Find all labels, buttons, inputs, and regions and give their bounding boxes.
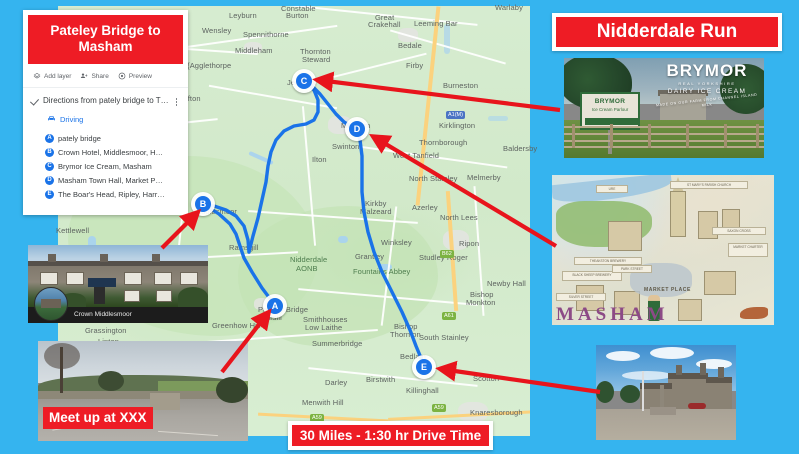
marker-letter: D — [349, 121, 365, 137]
car-icon — [47, 110, 56, 128]
map-label: Grassington — [85, 327, 127, 336]
title-banner: Nidderdale Run — [552, 13, 782, 51]
map-label: Kirklington — [439, 122, 475, 131]
travel-mode-row[interactable]: Driving — [23, 108, 188, 131]
chimney-icon — [718, 367, 724, 378]
map-label: Thornborough — [419, 139, 467, 148]
map-label: Crakehall — [368, 21, 401, 30]
marker-c-brymor[interactable]: C — [292, 69, 316, 93]
photo-ripley-village-square[interactable] — [596, 345, 736, 440]
logo-tagline-1: REAL YORKSHIRE — [652, 80, 762, 87]
map-ribbon-label: THEAKSTON BREWERY — [574, 257, 642, 265]
map-ribbon-label: URE — [596, 185, 628, 193]
waypoint-pin-icon: D — [45, 176, 54, 185]
marker-letter: A — [267, 298, 283, 314]
map-label: Bedale — [398, 42, 422, 51]
map-ribbon-label: MARKET CHARTER — [728, 243, 768, 257]
map-label: Knaresborough — [470, 409, 523, 418]
waypoint-label: Masham Town Hall, Market P… — [58, 176, 163, 185]
preview-button[interactable]: Preview — [118, 72, 152, 80]
map-label: Burton — [286, 12, 309, 21]
kebab-menu-icon[interactable] — [172, 96, 181, 106]
window — [66, 272, 84, 285]
chimney-icon — [48, 254, 56, 262]
photo-caption: Crown Middlesmoor — [28, 307, 208, 323]
map-label: Warlaby — [495, 4, 523, 13]
lake — [338, 236, 348, 243]
marker-letter: B — [195, 196, 211, 212]
map-ribbon-label: SILVER STREET — [556, 293, 606, 301]
map-label: West Tanfield — [393, 152, 439, 161]
road-shield: B62 — [440, 250, 454, 258]
slide-canvas: LeyburnConstableBurtonGreatCrakehallLeem… — [0, 0, 799, 454]
meet-up-tag: Meet up at XXX — [43, 407, 153, 429]
parked-car — [688, 403, 706, 409]
pheasant-illustration — [740, 307, 768, 319]
road-shield: A59 — [432, 404, 446, 412]
map-label: Darley — [325, 379, 347, 388]
map-label: Melmerby — [467, 174, 501, 183]
waypoint-item-e[interactable]: EThe Boar's Head, Ripley, Harr… — [23, 187, 188, 201]
add-layer-button[interactable]: Add layer — [33, 72, 71, 80]
waypoint-item-a[interactable]: Apately bridge — [23, 131, 188, 145]
marker-letter: C — [296, 73, 312, 89]
tree — [596, 381, 614, 403]
map-label: Middleham — [235, 47, 273, 56]
map-label: Ramsgill — [229, 244, 259, 253]
panel-spacer — [23, 201, 188, 215]
chimney-icon — [676, 365, 682, 375]
map-label: Birstwith — [366, 376, 395, 385]
waypoint-list[interactable]: Apately bridgeBCrown Hotel, Middlesmoor,… — [23, 131, 188, 201]
fence — [564, 124, 764, 148]
map-label: Azerley — [412, 204, 438, 213]
waypoint-pin-icon: B — [45, 148, 54, 157]
map-label: Spennithorne — [243, 31, 289, 40]
flagpole — [642, 371, 644, 411]
map-label: Winksley — [381, 239, 412, 248]
tree-canopy — [98, 371, 124, 391]
title-banner-text: Nidderdale Run — [556, 17, 778, 47]
layer-visibility-checkbox[interactable] — [31, 97, 39, 105]
sign-subtitle: Ice Cream Parlour — [582, 107, 638, 112]
photo-masham-illustrated-map[interactable]: ST MARY'S PARISH CHURCH SAXON CROSS MARK… — [552, 175, 774, 325]
panel-toolbar[interactable]: Add layer Share Preview — [23, 64, 188, 88]
chimney-icon — [152, 254, 160, 262]
waypoint-label: The Boar's Head, Ripley, Harr… — [58, 190, 165, 199]
pub-door — [94, 287, 105, 304]
st-marys-church — [670, 191, 686, 237]
layer-title: Directions from pately bridge to T… — [43, 96, 172, 106]
travel-mode-label: Driving — [60, 115, 83, 124]
cloud — [650, 347, 694, 359]
map-label: Killinghall — [406, 387, 439, 396]
map-label: AONB — [296, 265, 318, 274]
map-label: Wensley — [202, 27, 231, 36]
chimney-icon — [700, 363, 706, 375]
layer-header[interactable]: Directions from pately bridge to T… — [23, 88, 188, 108]
waypoint-pin-icon: A — [45, 134, 54, 143]
map-label: North Stainley — [409, 175, 458, 184]
map-label: South Stainley — [419, 334, 469, 343]
building — [706, 383, 732, 411]
waypoint-label: pately bridge — [58, 134, 101, 143]
building — [150, 393, 180, 410]
market-place-label: MARKET PLACE — [644, 287, 691, 293]
share-label: Share — [91, 73, 108, 80]
waypoint-item-c[interactable]: CBrymor Ice Cream, Masham — [23, 159, 188, 173]
waypoint-item-b[interactable]: BCrown Hotel, Middlesmoor, H… — [23, 145, 188, 159]
marker-letter: E — [416, 359, 432, 375]
road-shield: A1(M) — [446, 111, 465, 119]
window — [156, 290, 172, 302]
map-label: Fountains Abbey — [353, 268, 410, 277]
building — [704, 271, 736, 295]
masham-title: MASHAM — [556, 305, 669, 325]
marker-a-pateley-bridge[interactable]: A — [263, 294, 287, 318]
panel-title: Pateley Bridge to Masham — [28, 15, 183, 64]
person-add-icon — [80, 72, 88, 80]
waypoint-pin-icon: E — [45, 190, 54, 199]
window — [124, 272, 142, 285]
map-label: Summerbridge — [312, 340, 362, 349]
map-ribbon-label: ST MARY'S PARISH CHURCH — [670, 181, 748, 189]
add-layer-label: Add layer — [44, 73, 71, 80]
market-cross-base — [650, 407, 676, 415]
chimney-icon — [100, 254, 108, 262]
marker-d-masham[interactable]: D — [345, 117, 369, 141]
road — [209, 85, 337, 109]
map-label: Ripon — [459, 240, 479, 249]
road-shield: A61 — [442, 312, 456, 320]
map-label: A{Agglethorpe — [182, 62, 231, 71]
tree-canopy — [44, 343, 80, 369]
map-label: Ilton — [312, 156, 327, 165]
map-label: Leeming Bar — [414, 20, 458, 29]
map-label: Baldersby — [503, 145, 537, 154]
distance-banner: 30 Miles - 1:30 hr Drive Time — [288, 421, 493, 450]
tree — [620, 385, 640, 403]
map-label: Newby Hall — [487, 280, 526, 289]
river — [444, 24, 450, 54]
sign-title: BRYMOR — [582, 98, 638, 105]
shrub — [178, 287, 208, 307]
building — [608, 221, 642, 251]
waypoint-item-d[interactable]: DMasham Town Hall, Market P… — [23, 173, 188, 187]
building — [678, 299, 702, 321]
logo-wordmark: BRYMOR — [652, 62, 762, 80]
window — [180, 272, 198, 285]
map-label: Menwith Hill — [302, 399, 344, 408]
pub-sign — [88, 278, 116, 287]
eye-icon — [118, 72, 126, 80]
map-label: Thornton — [390, 331, 421, 340]
map-label: Steward — [302, 56, 330, 65]
layers-icon — [33, 72, 41, 80]
brymor-logo: BRYMOR REAL YORKSHIRE DAIRY ICE CREAM MA… — [652, 62, 762, 108]
reservoir — [248, 151, 273, 165]
marker-b-middlesmoor[interactable]: B — [191, 192, 215, 216]
river-2 — [488, 116, 508, 121]
map-label: North Lees — [440, 214, 478, 223]
map-label: Leyburn — [229, 12, 257, 21]
map-label: Grantley — [355, 253, 384, 262]
window — [40, 272, 58, 285]
map-label: Scotton — [473, 375, 499, 384]
map-label: Kettlewell — [56, 227, 89, 236]
map-label: Greenhow Hill — [212, 322, 260, 331]
waypoint-pin-icon: C — [45, 162, 54, 171]
map-label: Swinton — [332, 143, 359, 152]
map-label: Malzeard — [360, 208, 392, 217]
map-label: Low Laithe — [305, 324, 342, 333]
map-ribbon-label: PARK STREET — [612, 265, 652, 273]
cloud — [622, 371, 672, 380]
my-maps-side-panel[interactable]: Pateley Bridge to Masham Add layer — [23, 10, 188, 215]
waypoint-label: Brymor Ice Cream, Masham — [58, 162, 152, 171]
photo-crown-middlesmoor[interactable]: Crown Middlesmoor — [28, 245, 208, 323]
marker-e-ripley[interactable]: E — [412, 355, 436, 379]
distance-banner-text: 30 Miles - 1:30 hr Drive Time — [292, 425, 489, 446]
tree-canopy — [216, 377, 248, 403]
share-button[interactable]: Share — [80, 72, 108, 80]
cloud — [606, 351, 640, 361]
map-label: Firby — [406, 62, 423, 71]
window — [124, 290, 140, 302]
map-label: Burneston — [443, 82, 478, 91]
map-label: Monkton — [466, 299, 495, 308]
photo-brymor-ice-cream[interactable]: BRYMOR Ice Cream Parlour BRYMOR REAL YOR… — [564, 58, 764, 158]
map-ribbon-label: SAXON CROSS — [712, 227, 766, 235]
window — [154, 272, 172, 285]
preview-label: Preview — [129, 73, 152, 80]
waypoint-label: Crown Hotel, Middlesmoor, H… — [58, 148, 163, 157]
